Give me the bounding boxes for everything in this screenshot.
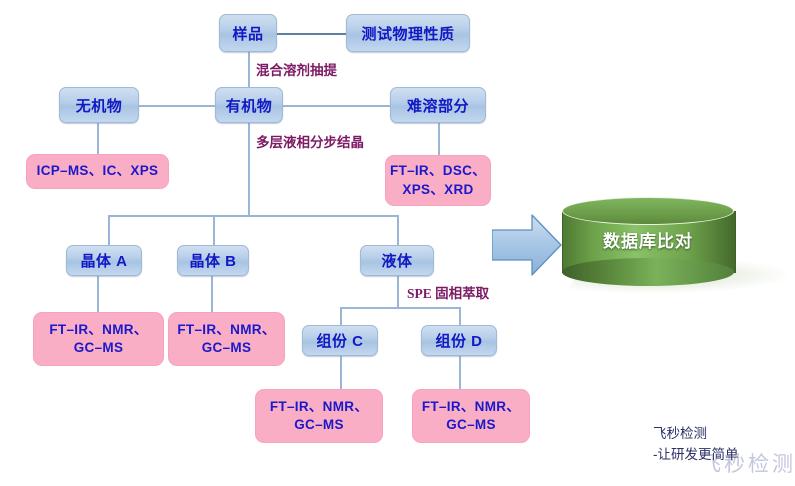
result-inorganic: ICP–MS、IC、XPS — [26, 154, 169, 189]
cylinder-bottom-ellipse — [562, 258, 734, 286]
connector-organic-split-bus — [108, 215, 399, 217]
arrow-to-database — [492, 212, 562, 278]
result-crystal-b: FT–IR、NMR、 GC–MS — [168, 312, 285, 366]
result-insoluble-label: FT–IR、DSC、 XPS、XRD — [390, 162, 486, 198]
connector-organic-to-insoluble — [283, 105, 390, 107]
connector-inorganic-to-organic — [139, 105, 215, 107]
node-crystal-a[interactable]: 晶体 A — [66, 245, 142, 276]
result-crystal-a-label: FT–IR、NMR、 GC–MS — [49, 321, 147, 357]
connector-organic-down — [248, 123, 250, 216]
node-crystal-b-label: 晶体 B — [189, 250, 236, 271]
result-crystal-b-label: FT–IR、NMR、 GC–MS — [177, 321, 275, 357]
edge-label-spe: SPE 固相萃取 — [407, 282, 489, 302]
database-label: 数据库比对 — [562, 227, 734, 252]
node-crystal-b[interactable]: 晶体 B — [177, 245, 249, 276]
node-component-c[interactable]: 组份 C — [302, 325, 378, 356]
node-crystal-a-label: 晶体 A — [80, 250, 127, 271]
cylinder-top-ellipse — [562, 197, 734, 225]
node-inorganic-label: 无机物 — [76, 95, 123, 116]
node-organic[interactable]: 有机物 — [215, 87, 283, 123]
connector-bus-to-component-c — [340, 307, 342, 325]
node-component-d[interactable]: 组份 D — [421, 325, 497, 356]
edge-label-extraction: 混合溶剂抽提 — [256, 59, 337, 79]
node-liquid[interactable]: 液体 — [360, 245, 434, 276]
result-inorganic-label: ICP–MS、IC、XPS — [37, 162, 159, 180]
connector-crystal-a-to-result — [97, 276, 99, 312]
connector-liquid-down — [397, 276, 399, 308]
connector-component-d-to-result — [459, 356, 461, 389]
connector-component-c-to-result — [340, 356, 342, 389]
connector-bus-to-crystal-a — [108, 215, 110, 245]
node-phys-test[interactable]: 测试物理性质 — [346, 14, 470, 52]
footer-brand-line2: -让研发更简单 — [653, 443, 739, 463]
result-component-d: FT–IR、NMR、 GC–MS — [412, 389, 530, 443]
database-cylinder[interactable]: 数据库比对 — [562, 197, 794, 297]
result-component-c-label: FT–IR、NMR、 GC–MS — [270, 398, 368, 434]
result-crystal-a: FT–IR、NMR、 GC–MS — [33, 312, 164, 366]
connector-bus-to-component-d — [459, 307, 461, 325]
result-component-d-label: FT–IR、NMR、 GC–MS — [422, 398, 520, 434]
connector-bus-to-liquid — [397, 215, 399, 245]
connector-sample-to-phys-test — [277, 33, 346, 35]
connector-crystal-b-to-result — [211, 276, 213, 312]
node-sample-label: 样品 — [232, 23, 263, 44]
node-component-d-label: 组份 D — [435, 330, 482, 351]
node-component-c-label: 组份 C — [316, 330, 363, 351]
result-insoluble: FT–IR、DSC、 XPS、XRD — [385, 155, 491, 206]
node-inorganic[interactable]: 无机物 — [59, 87, 139, 123]
connector-bus-to-crystal-b — [213, 215, 215, 245]
right-arrow-icon — [492, 212, 562, 278]
edge-label-crystallization: 多层液相分步结晶 — [256, 131, 364, 151]
node-liquid-label: 液体 — [381, 250, 412, 271]
connector-sample-to-organic — [248, 52, 250, 92]
node-insoluble-label: 难溶部分 — [407, 95, 469, 116]
node-phys-test-label: 测试物理性质 — [361, 23, 454, 44]
connector-liquid-split-bus — [340, 307, 460, 309]
flowchart-canvas: 样品 测试物理性质 无机物 有机物 难溶部分 晶体 A 晶体 B 液体 组份 C… — [0, 0, 795, 486]
result-component-c: FT–IR、NMR、 GC–MS — [255, 389, 383, 443]
footer-brand-line1: 飞秒检测 — [653, 422, 707, 442]
connector-insoluble-to-result — [438, 123, 440, 155]
node-sample[interactable]: 样品 — [219, 14, 277, 52]
connector-inorganic-to-result — [97, 123, 99, 154]
node-organic-label: 有机物 — [226, 95, 273, 116]
node-insoluble[interactable]: 难溶部分 — [390, 87, 486, 123]
